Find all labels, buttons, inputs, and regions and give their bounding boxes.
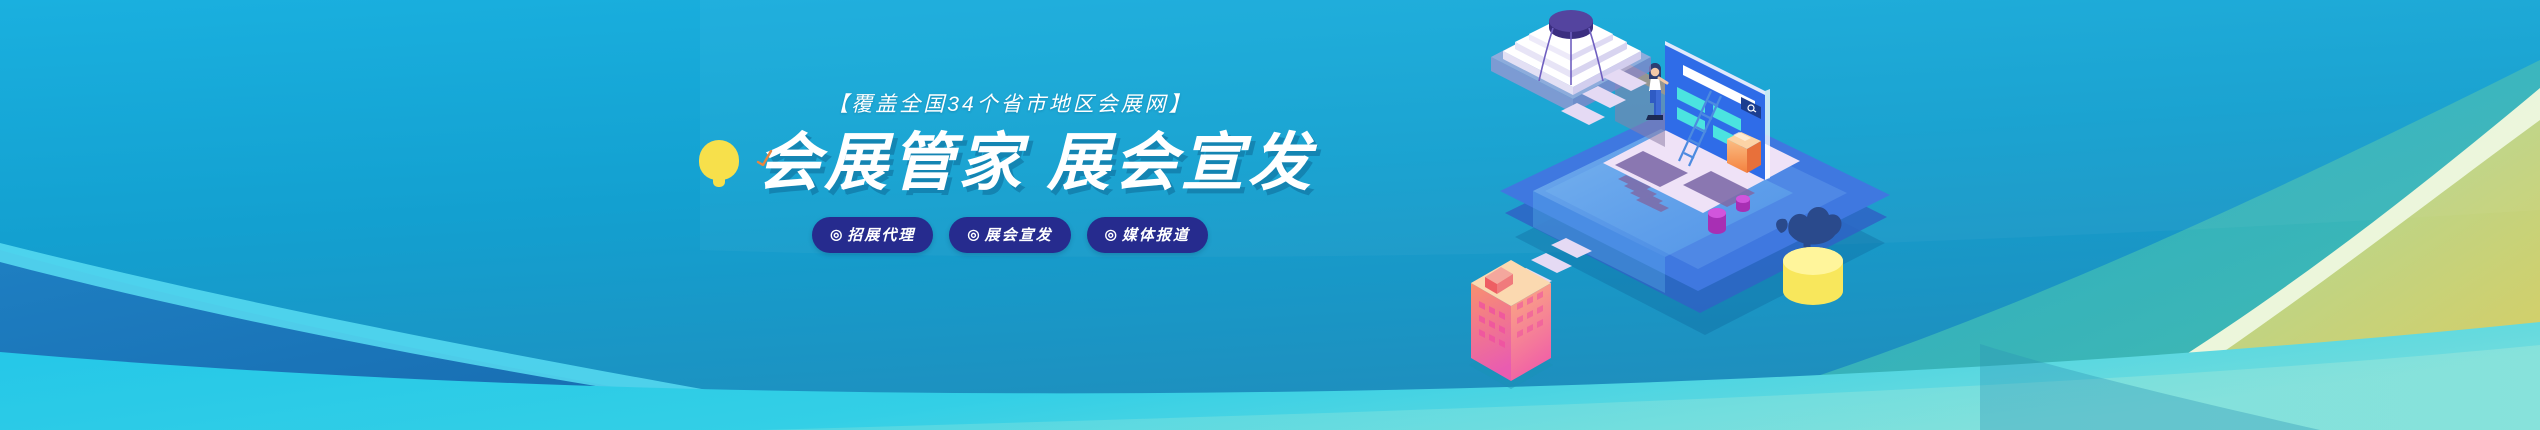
circle-marker-icon: ◎: [830, 226, 842, 243]
purple-cylinder-small: [1736, 195, 1750, 212]
circle-marker-icon: ◎: [1105, 226, 1117, 243]
lightbulb-icon: [699, 140, 739, 190]
badge-item-0[interactable]: ◎ 招展代理: [812, 217, 933, 253]
isometric-illustration: [1455, 0, 1925, 430]
badge-item-2[interactable]: ◎ 媒体报道: [1087, 217, 1208, 253]
promo-banner: 【覆盖全国34个省市地区会展网】 会展管家 展会宣发 ◎ 招展代理 ◎ 展会宣发…: [0, 0, 2540, 430]
headline-block: 【覆盖全国34个省市地区会展网】 会展管家 展会宣发 ◎ 招展代理 ◎ 展会宣发…: [690, 88, 1330, 253]
tagline: 【覆盖全国34个省市地区会展网】: [827, 88, 1192, 118]
office-building: [1469, 260, 1553, 389]
badge-label: 媒体报道: [1122, 224, 1190, 245]
title-row: 会展管家 展会宣发: [699, 132, 1315, 195]
purple-cylinder-large: [1708, 208, 1726, 234]
badge-label: 招展代理: [847, 224, 915, 245]
badge-item-1[interactable]: ◎ 展会宣发: [949, 217, 1070, 253]
plant-in-pot: [1776, 207, 1843, 305]
badge-list: ◎ 招展代理 ◎ 展会宣发 ◎ 媒体报道: [812, 217, 1208, 253]
page-title: 会展管家 展会宣发: [757, 132, 1315, 195]
circle-marker-icon: ◎: [967, 226, 979, 243]
orange-check-mark-icon: [756, 150, 774, 166]
badge-label: 展会宣发: [985, 224, 1053, 245]
